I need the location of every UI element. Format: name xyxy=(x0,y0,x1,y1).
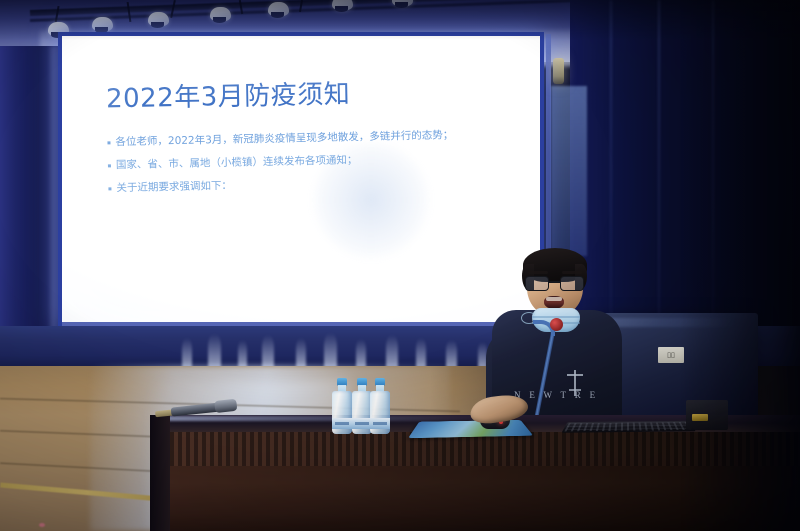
stage-light-icon xyxy=(210,7,231,22)
slide-bullet-list: 各位老师，2022年3月，新冠肺炎疫情呈现多地散发，多链并行的态势； 国家、省、… xyxy=(107,127,528,205)
mic-windscreen-icon xyxy=(550,318,563,331)
bottle-label xyxy=(352,418,372,429)
slide-title: 2022年3月防疫须知 xyxy=(106,74,351,116)
right-edge-shadow xyxy=(680,0,800,531)
presenter-eyebrow-right xyxy=(562,271,582,274)
stage-light-icon xyxy=(332,0,353,11)
water-bottle[interactable] xyxy=(370,378,390,434)
auditorium-presentation-photo: 2022年3月防疫须知 各位老师，2022年3月，新冠肺炎疫情呈现多地散发，多链… xyxy=(0,0,800,531)
stage-light-icon xyxy=(268,2,289,17)
stage-light-icon xyxy=(92,17,113,32)
stage-light-icon xyxy=(148,12,169,27)
bullet-text: 关于近期要求强调如下： xyxy=(116,179,232,196)
water-bottle[interactable] xyxy=(332,378,352,434)
keyboard[interactable] xyxy=(562,421,696,433)
eyeglasses-icon xyxy=(525,276,585,291)
floor-marker-dot xyxy=(39,523,45,527)
list-item: 国家、省、市、属地（小榄镇）连续发布各项通知； xyxy=(108,150,528,173)
wall-lamp-icon xyxy=(553,58,564,84)
desk-top-highlight xyxy=(162,416,492,421)
bullet-marker-icon xyxy=(108,188,111,191)
bottle-label xyxy=(370,418,390,429)
water-bottle[interactable] xyxy=(352,378,372,434)
mic-grille-icon xyxy=(214,399,237,413)
list-item: 各位老师，2022年3月，新冠肺炎疫情呈现多地散发，多链并行的态势； xyxy=(107,127,527,150)
desk-left-edge xyxy=(150,415,170,531)
bottle-label xyxy=(332,418,352,429)
bullet-marker-icon xyxy=(107,141,110,144)
bullet-text: 各位老师，2022年3月，新冠肺炎疫情呈现多地散发，多链并行的态势； xyxy=(115,128,453,149)
gooseneck-microphone[interactable] xyxy=(524,318,564,430)
list-item: 关于近期要求强调如下： xyxy=(108,173,528,196)
bullet-marker-icon xyxy=(108,165,111,168)
mousepad xyxy=(408,420,533,438)
keyboard-keys xyxy=(564,422,693,431)
projected-slide: 2022年3月防疫须知 各位老师，2022年3月，新冠肺炎疫情呈现多地散发，多链… xyxy=(62,36,540,326)
projection-screen[interactable]: 2022年3月防疫须知 各位老师，2022年3月，新冠肺炎疫情呈现多地散发，多链… xyxy=(58,32,544,330)
wall-panel xyxy=(551,86,587,256)
presenter-eyebrow-left xyxy=(528,271,548,274)
bullet-text: 国家、省、市、属地（小榄镇）连续发布各项通知； xyxy=(116,153,358,172)
